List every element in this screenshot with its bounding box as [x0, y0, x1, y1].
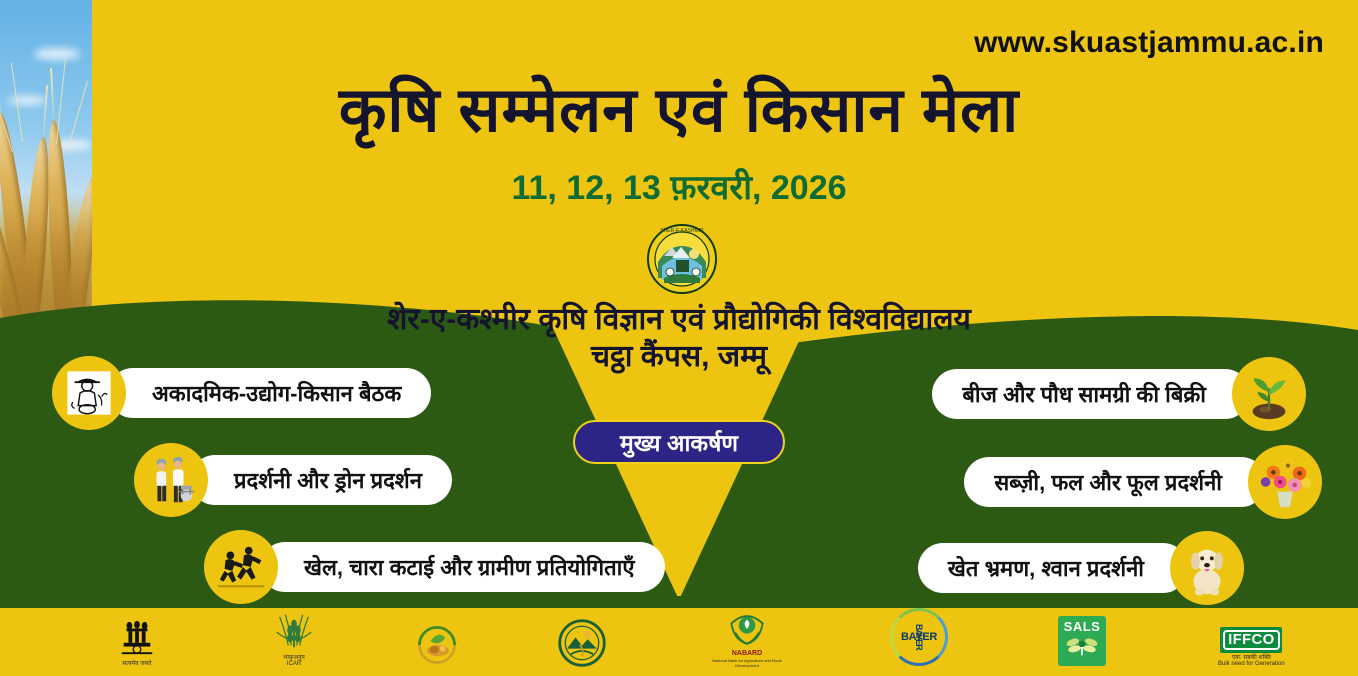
bayer-logo: BAYER BAYER [890, 608, 948, 666]
main-attractions-badge: मुख्य आकर्षण [573, 420, 785, 464]
sponsor-subcaption: National Bank for Agriculture and Rural … [712, 659, 782, 668]
sponsor-strip: सत्यमेव जयते [0, 608, 1358, 676]
agriculture-fair-poster: www.skuastjammu.ac.in कृषि सम्मेलन एवं क… [0, 0, 1358, 676]
feature-label: बीज और पौध सामग्री की बिक्री [932, 369, 1250, 419]
feature-item-seed-planting-material-sale[interactable]: बीज और पौध सामग्री की बिक्री [932, 357, 1306, 431]
feature-label: खेत भ्रमण, श्वान प्रदर्शनी [918, 543, 1188, 593]
bayer-vertical-text: BAYER [914, 624, 924, 650]
feature-item-academic-industry-farmer-meet[interactable]: अकादमिक-उद्योग-किसान बैठक [52, 356, 431, 430]
feature-item-field-visit-dog-show[interactable]: खेत भ्रमण, श्वान प्रदर्शनी [918, 531, 1244, 605]
cloud-shape [34, 48, 80, 60]
sals-icon: SALS [1058, 616, 1106, 666]
sponsor-subcaption: एक: सबकी शक्ति Bulk need for Generation [1218, 655, 1285, 668]
drone-demo-icon [134, 443, 208, 517]
feature-label: अकादमिक-उद्योग-किसान बैठक [108, 368, 431, 418]
website-url[interactable]: www.skuastjammu.ac.in [974, 26, 1324, 60]
emblem-top-text: SHER-E-KASHMIR [660, 228, 704, 234]
iffco-label: IFFCO [1223, 630, 1280, 650]
runners-icon [204, 530, 278, 604]
skuast-jammu-emblem: SHER-E-KASHMIR [642, 222, 722, 296]
dog-icon [1170, 531, 1244, 605]
emblem-of-india-logo: सत्यमेव जयते [118, 617, 156, 668]
bayer-cross-icon: BAYER BAYER [890, 608, 948, 666]
feature-item-vegetable-fruit-flower-show[interactable]: सब्ज़ी, फल और फूल प्रदर्शनी [964, 445, 1322, 519]
flower-bouquet-icon [1248, 445, 1322, 519]
nabard-logo: NABARD National Bank for Agriculture and… [712, 610, 782, 668]
skuast-jammu-logo [556, 618, 608, 668]
page-title: कृषि सम्मेलन एवं किसान मेला [0, 78, 1358, 143]
event-dates: 11, 12, 13 फ़रवरी, 2026 [0, 163, 1358, 209]
university-line-1: शेर-ए-कश्मीर कृषि विज्ञान एवं प्रौद्योगि… [0, 302, 1358, 339]
feature-label: खेल, चारा कटाई और ग्रामीण प्रतियोगिताएँ [260, 542, 665, 592]
agriculture-ministry-logo [412, 622, 462, 668]
feature-item-sports-fodder-rural-competitions[interactable]: खेल, चारा कटाई और ग्रामीण प्रतियोगिताएँ [204, 530, 665, 604]
sponsor-caption: NABARD [732, 650, 762, 658]
seedling-icon [1232, 357, 1306, 431]
farmer-icon [52, 356, 126, 430]
feature-label: प्रदर्शनी और ड्रोन प्रदर्शन [190, 455, 452, 505]
icar-logo: भाकृअनुप ICAR [272, 611, 316, 668]
sals-label: SALS [1064, 619, 1101, 634]
sals-logo: SALS [1058, 616, 1106, 666]
iffco-logo: IFFCO एक: सबकी शक्ति Bulk need for Gener… [1218, 627, 1285, 668]
feature-item-exhibition-drone-demo[interactable]: प्रदर्शनी और ड्रोन प्रदर्शन [134, 443, 452, 517]
iffco-icon: IFFCO [1220, 627, 1282, 653]
sponsor-caption: भाकृअनुप ICAR [283, 655, 305, 668]
feature-label: सब्ज़ी, फल और फूल प्रदर्शनी [964, 457, 1266, 507]
sponsor-caption: सत्यमेव जयते [122, 661, 151, 668]
